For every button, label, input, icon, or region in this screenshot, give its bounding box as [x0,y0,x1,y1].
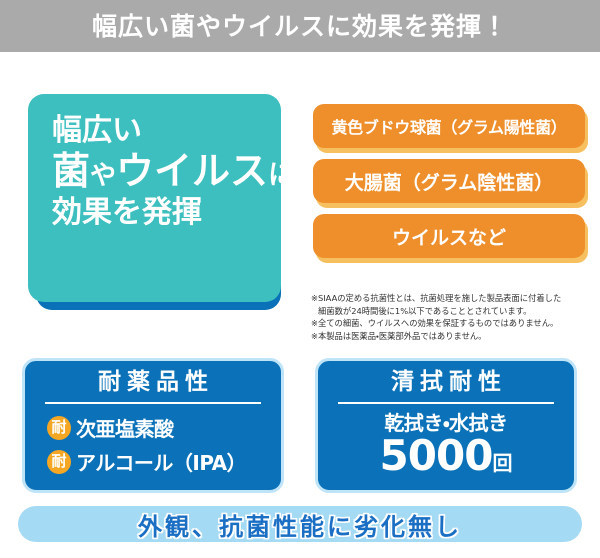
bottom-summary-label: 外観、抗菌性能に劣化無し [138,507,462,542]
hero-line-2: 菌やウイルスに [52,150,281,193]
hero-card: 幅広い 菌やウイルスに 効果を発揮 [28,94,281,302]
wipe-count-unit: 回 [492,451,512,475]
panel-chemical-divider [45,402,261,404]
page-header-bar: 幅広い菌やウイルスに効果を発揮！ [0,0,600,52]
panel-chemical-body: 耐 次亜塩素酸 耐 アルコール（IPA） [25,413,281,476]
page-header-title: 幅広い菌やウイルスに効果を発揮！ [92,14,508,39]
panel-wipe-resistance: 清拭耐性 乾拭き・水拭き 5000回 [315,358,577,493]
bottom-summary-bar: 外観、抗菌性能に劣化無し [18,506,582,542]
footnote-line-3: ※全ての細菌、ウイルスへの効果を保証するものではありません。 [311,317,597,330]
chemical-item-label: アルコール（IPA） [76,447,246,476]
hero-line-2-ya: や [90,161,116,191]
target-pill-label: ウイルスなど [392,223,506,250]
footnote-line-1: ※SIAAの定める抗菌性とは、抗菌処理を施した製品表面に付着した [311,292,597,305]
footnote-line-4: ※本製品は医薬品・医薬部外品ではありません。 [311,330,597,343]
hero-line-2-ni: に [268,160,295,191]
hero-line-3: 効果を発揮 [52,196,281,230]
target-pill-label: 黄色ブドウ球菌（グラム陽性菌） [331,114,566,138]
panel-chemical-resistance: 耐薬品性 耐 次亜塩素酸 耐 アルコール（IPA） [22,358,284,493]
hero-line-2-virus: ウイルス [116,149,268,193]
target-pill-list: 黄色ブドウ球菌（グラム陽性菌） 大腸菌（グラム陰性菌） ウイルスなど [313,104,585,269]
footnote-line-2: 細菌数が24時間後に1%以下であることとされています。 [311,305,597,318]
target-pill-virus[interactable]: ウイルスなど [313,214,585,258]
target-pill-item: ウイルスなど [313,214,585,258]
target-pill-label: 大腸菌（グラム陰性菌） [345,168,553,195]
target-pill-item: 大腸菌（グラム陰性菌） [313,159,585,203]
panel-wipe-title: 清拭耐性 [318,370,574,395]
chemical-list-item: 耐 アルコール（IPA） [25,447,281,476]
feature-panels: 耐薬品性 耐 次亜塩素酸 耐 アルコール（IPA） 清拭耐性 乾拭き・水拭き 5… [0,358,600,500]
target-pill-staphylococcus[interactable]: 黄色ブドウ球菌（グラム陽性菌） [313,104,585,148]
panel-chemical-title: 耐薬品性 [25,370,281,395]
resistance-badge-icon: 耐 [47,416,71,440]
resistance-badge-icon: 耐 [47,450,71,474]
chemical-item-label: 次亜塩素酸 [76,413,174,442]
target-pill-item: 黄色ブドウ球菌（グラム陽性菌） [313,104,585,148]
top-section: 幅広い 菌やウイルスに 効果を発揮 黄色ブドウ球菌（グラム陽性菌） 大腸菌（グラ… [0,52,600,352]
hero-line-2-kin: 菌 [52,149,90,193]
target-pill-ecoli[interactable]: 大腸菌（グラム陰性菌） [313,159,585,203]
wipe-count-number: 5000 [380,431,493,480]
wipe-count-value: 5000回 [318,435,574,477]
panel-wipe-body: 乾拭き・水拭き 5000回 [318,413,574,477]
footnotes-block: ※SIAAの定める抗菌性とは、抗菌処理を施した製品表面に付着した 細菌数が24時… [311,292,597,342]
hero-line-1: 幅広い [52,114,281,148]
panel-wipe-divider [338,402,554,404]
chemical-list-item: 耐 次亜塩素酸 [25,413,281,442]
